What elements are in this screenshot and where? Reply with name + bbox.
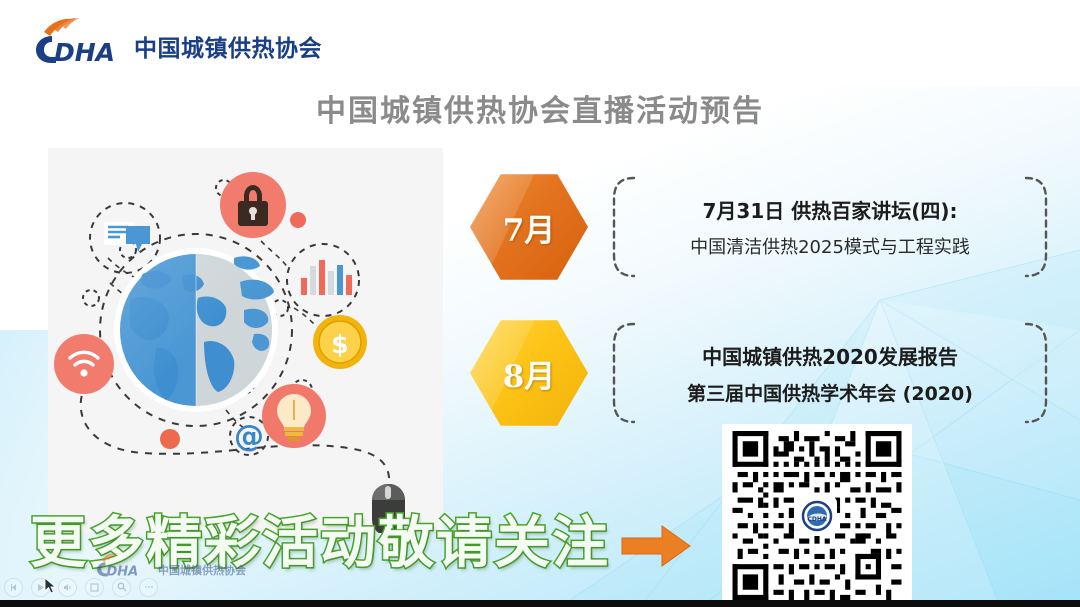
lock-icon (220, 172, 286, 238)
header: DHA 中国城镇供热协会 (0, 0, 1080, 86)
schedule-row-july: 7月 7月31日 供热百家讲坛(四): 中国清洁供热2025模式与工程实践 (470, 172, 1050, 282)
event-subtitle-july: 中国清洁供热2025模式与工程实践 (690, 233, 970, 259)
dashed-bracket-left-icon (610, 175, 636, 279)
wifi-icon (54, 334, 114, 394)
brand-logo: DHA 中国城镇供热协会 (30, 16, 322, 66)
global-network-illustration: $ @ (48, 148, 443, 533)
skip-back-icon[interactable] (4, 578, 23, 597)
dashed-bracket-right-icon (1024, 175, 1050, 279)
dot-accent (160, 429, 180, 449)
event-title-july: 7月31日 供热百家讲坛(四): (703, 195, 958, 224)
player-letterbox-bar (0, 600, 1080, 607)
globe-icon (114, 248, 278, 412)
volume-icon[interactable] (58, 578, 77, 597)
svg-text:DHA: DHA (54, 38, 115, 66)
svg-text:CDHA: CDHA (807, 516, 826, 523)
schedule-row-august: 8月 中国城镇供热2020发展报告 第三届中国供热学术年会 (2020) (470, 318, 1050, 428)
page-title: 中国城镇供热协会直播活动预告 (0, 86, 1080, 130)
month-badge-july: 7月 (470, 172, 588, 282)
search-icon[interactable] (112, 578, 131, 597)
month-badge-label: 8月 (503, 351, 556, 396)
mouse-cursor-icon (44, 577, 58, 595)
event-title-august: 中国城镇供热2020发展报告 (702, 341, 958, 370)
brand-name: 中国城镇供热协会 (134, 29, 322, 66)
cdha-logo-icon: DHA (30, 16, 126, 66)
event-subtitle-august: 第三届中国供热学术年会 (2020) (687, 379, 973, 406)
bar-chart-icon (301, 260, 352, 295)
lightbulb-icon (262, 384, 326, 448)
svg-text:@: @ (234, 419, 264, 454)
schedule-bracket-august: 中国城镇供热2020发展报告 第三届中国供热学术年会 (2020) (610, 318, 1050, 428)
dot-accent (290, 212, 306, 228)
svg-text:$: $ (331, 330, 348, 359)
chat-bubble-icon (104, 222, 150, 252)
more-icon[interactable] (139, 578, 158, 597)
month-badge-august: 8月 (470, 318, 588, 428)
slide-stage: DHA 中国城镇供热协会 中国城镇供热协会直播活动预告 (0, 0, 1080, 607)
at-sign-icon: @ (234, 419, 264, 454)
schedule-bracket-july: 7月31日 供热百家讲坛(四): 中国清洁供热2025模式与工程实践 (610, 172, 1050, 282)
dashed-bracket-left-icon (610, 321, 636, 425)
cdha-circle-logo-icon: CDHA (797, 496, 837, 536)
dashed-bracket-right-icon (1024, 321, 1050, 425)
wechat-qr-code[interactable]: CDHA (722, 424, 912, 607)
right-arrow-icon (620, 522, 692, 570)
month-badge-label: 7月 (503, 205, 556, 250)
dollar-coin-icon: $ (313, 315, 367, 369)
expand-icon[interactable] (85, 578, 104, 597)
